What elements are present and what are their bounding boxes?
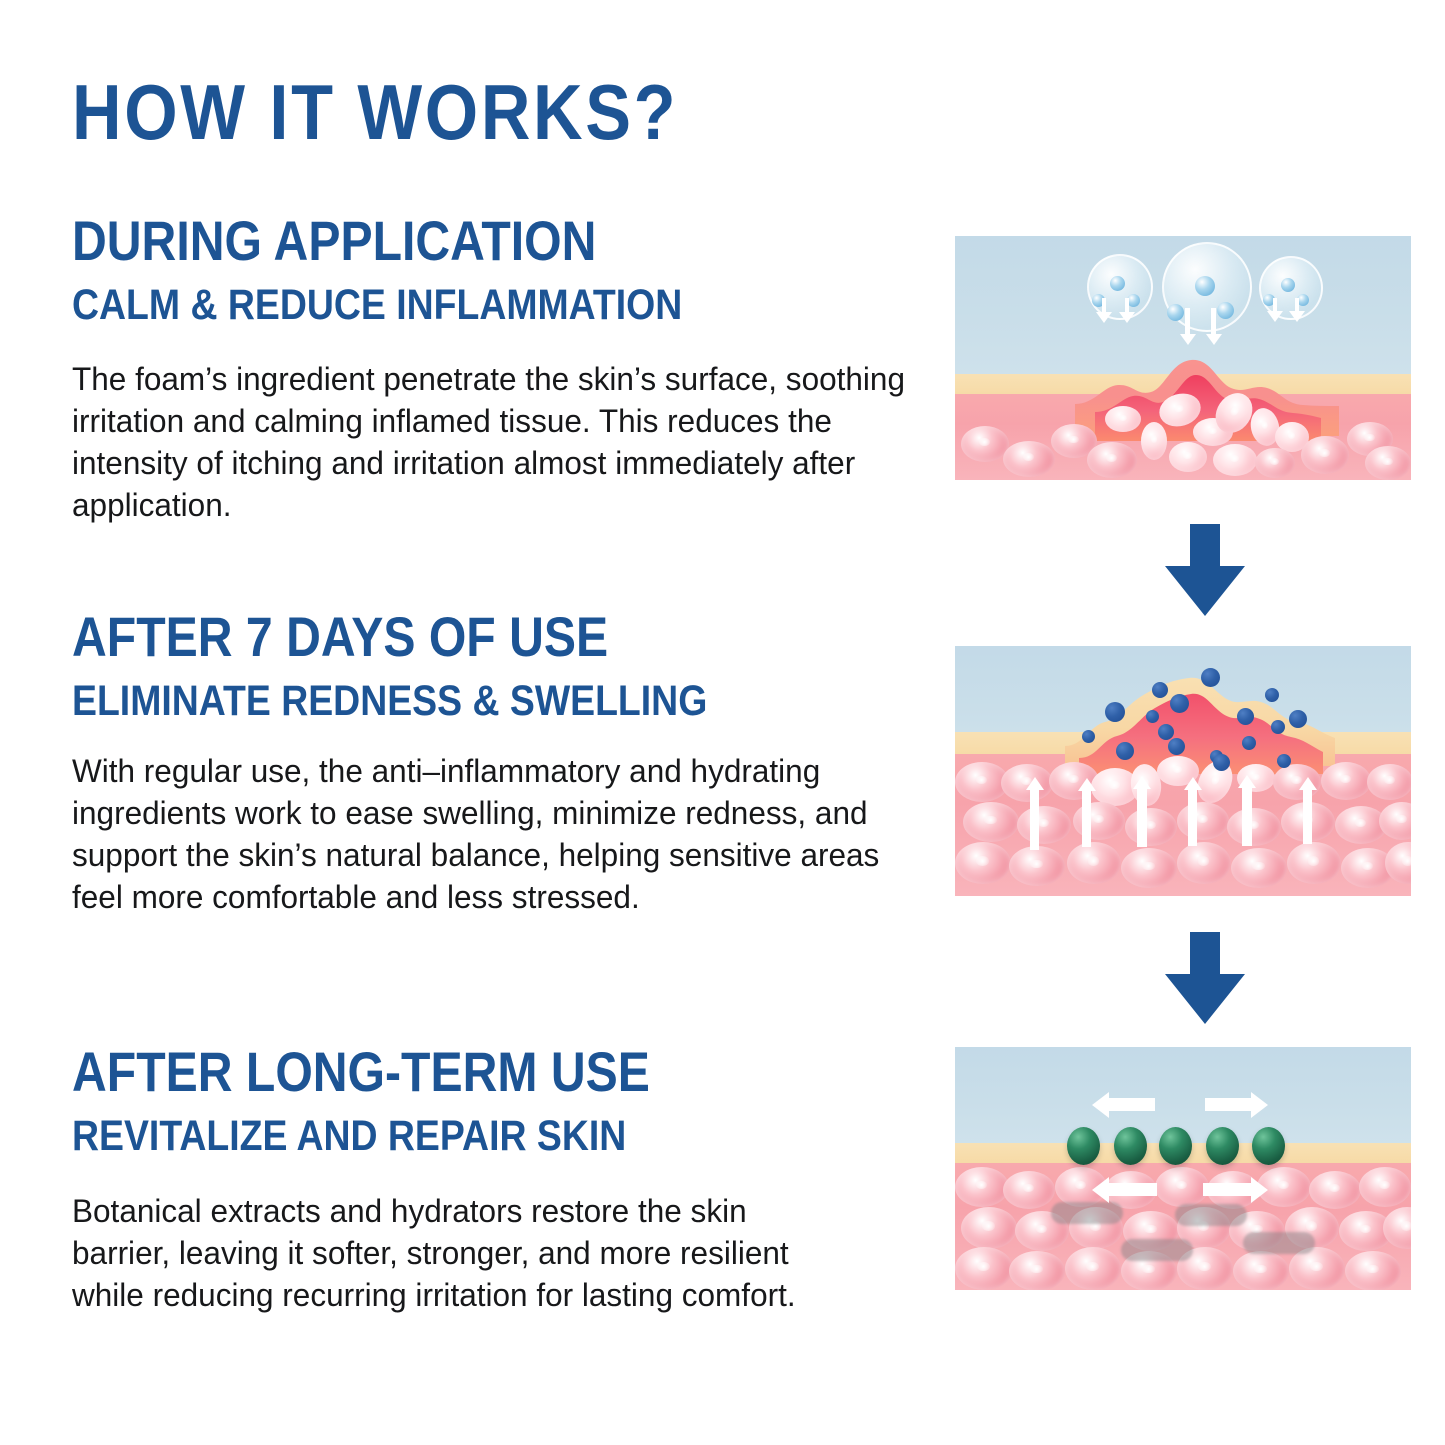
foam-droplet bbox=[1167, 304, 1184, 321]
active-molecule bbox=[1242, 736, 1256, 750]
skin-cell bbox=[1255, 448, 1295, 478]
skin-cell bbox=[1367, 764, 1411, 800]
skin-cell bbox=[1017, 806, 1071, 844]
healing-arrow-up bbox=[1137, 787, 1147, 847]
skin-cell bbox=[1125, 808, 1177, 846]
skin-cell bbox=[963, 802, 1019, 842]
active-molecule bbox=[1170, 694, 1189, 713]
skin-cell bbox=[1003, 441, 1055, 477]
skin-cell bbox=[1359, 1167, 1411, 1207]
skin-cell bbox=[1177, 842, 1231, 884]
skin-cell bbox=[1087, 442, 1137, 478]
healing-arrow-up bbox=[1188, 788, 1197, 846]
skin-cell bbox=[955, 1247, 1013, 1290]
step-arrow-1-to-2 bbox=[1157, 524, 1253, 624]
active-molecule bbox=[1237, 708, 1254, 725]
skin-cell bbox=[1287, 842, 1341, 884]
section-1-heading: DURING APPLICATION bbox=[72, 212, 596, 270]
skin-cell bbox=[1301, 436, 1349, 474]
skin-cell bbox=[1009, 1251, 1065, 1290]
skin-cell bbox=[1121, 848, 1177, 888]
section-1-body: The foam’s ingredient penetrate the skin… bbox=[72, 358, 950, 526]
active-molecule bbox=[1158, 724, 1174, 740]
repair-capsule bbox=[1121, 1239, 1193, 1261]
active-molecule bbox=[1277, 754, 1291, 768]
section-2-body: With regular use, the anti–inflammatory … bbox=[72, 750, 916, 918]
illustration-during-application bbox=[955, 236, 1411, 480]
penetration-arrow bbox=[1295, 298, 1299, 313]
healing-arrow-up bbox=[1082, 789, 1091, 847]
page-title: HOW IT WORKS? bbox=[72, 72, 678, 152]
skin-cell bbox=[1003, 1171, 1055, 1209]
healing-arrow-up bbox=[1242, 786, 1252, 846]
section-3-subheading: REVITALIZE AND REPAIR SKIN bbox=[72, 1114, 626, 1159]
barrier-arrow-left-top bbox=[1105, 1098, 1155, 1111]
skin-cell bbox=[1067, 842, 1121, 884]
skin-cell bbox=[1365, 446, 1411, 480]
skin-cell bbox=[1227, 808, 1281, 846]
skin-cell bbox=[1155, 1167, 1209, 1207]
repair-capsule bbox=[1243, 1232, 1315, 1254]
skin-cell bbox=[1073, 802, 1125, 840]
skin-cell bbox=[1345, 1251, 1401, 1290]
skin-cell bbox=[955, 842, 1011, 884]
foam-droplet bbox=[1195, 276, 1215, 296]
skin-cell bbox=[1233, 1251, 1289, 1290]
section-1-subheading: CALM & REDUCE INFLAMMATION bbox=[72, 283, 682, 328]
botanical-sphere bbox=[1252, 1127, 1285, 1165]
barrier-arrow-left-bottom bbox=[1105, 1183, 1157, 1196]
skin-cell bbox=[1169, 442, 1207, 472]
active-molecule bbox=[1289, 710, 1307, 728]
botanical-sphere bbox=[1159, 1127, 1192, 1165]
skin-cell bbox=[1321, 762, 1371, 800]
penetration-arrow bbox=[1273, 298, 1277, 313]
skin-cell bbox=[1009, 846, 1065, 886]
penetration-arrow bbox=[1125, 298, 1129, 314]
foam-droplet bbox=[1281, 278, 1295, 292]
step-arrow-2-to-3 bbox=[1157, 932, 1253, 1032]
section-3-body: Botanical extracts and hydrators restore… bbox=[72, 1190, 838, 1316]
active-molecule bbox=[1146, 710, 1159, 723]
foam-droplet bbox=[1110, 276, 1125, 291]
repair-capsule bbox=[1175, 1204, 1247, 1226]
skin-cell bbox=[1231, 848, 1287, 888]
foam-droplet bbox=[1217, 302, 1234, 319]
healing-arrow-up bbox=[1030, 788, 1039, 850]
active-molecule bbox=[1265, 688, 1279, 702]
penetration-arrow bbox=[1102, 298, 1106, 314]
repair-capsule bbox=[1051, 1202, 1123, 1224]
penetration-arrow bbox=[1185, 308, 1190, 336]
section-2-heading: AFTER 7 DAYS OF USE bbox=[72, 608, 608, 666]
skin-cell bbox=[961, 426, 1009, 462]
skin-cell bbox=[955, 1167, 1009, 1207]
botanical-sphere bbox=[1114, 1127, 1147, 1165]
active-molecule bbox=[1271, 720, 1285, 734]
skin-cell bbox=[1141, 422, 1167, 460]
healing-arrow-up bbox=[1303, 788, 1312, 844]
active-molecule bbox=[1201, 668, 1220, 687]
skin-cell bbox=[1213, 444, 1257, 476]
section-2-subheading: ELIMINATE REDNESS & SWELLING bbox=[72, 679, 707, 724]
skin-cell bbox=[961, 1207, 1017, 1249]
active-molecule bbox=[1213, 754, 1230, 771]
active-molecule bbox=[1116, 742, 1134, 760]
active-molecule bbox=[1105, 702, 1125, 722]
active-molecule bbox=[1168, 738, 1185, 755]
active-molecule bbox=[1152, 682, 1168, 698]
active-molecule bbox=[1082, 730, 1095, 743]
barrier-arrow-right-bottom bbox=[1203, 1183, 1255, 1196]
illustration-after-7-days bbox=[955, 646, 1411, 896]
botanical-sphere bbox=[1067, 1127, 1100, 1165]
skin-cell bbox=[1105, 406, 1141, 432]
penetration-arrow bbox=[1211, 308, 1216, 336]
skin-cell bbox=[1309, 1171, 1361, 1209]
barrier-arrow-right-top bbox=[1205, 1098, 1255, 1111]
skin-cell bbox=[1177, 802, 1229, 840]
botanical-sphere bbox=[1206, 1127, 1239, 1165]
skin-cell bbox=[1065, 1247, 1121, 1290]
how-it-works-infographic: HOW IT WORKS? DURING APPLICATION CALM & … bbox=[0, 0, 1445, 1445]
illustration-after-long-term bbox=[955, 1047, 1411, 1290]
section-3-heading: AFTER LONG-TERM USE bbox=[72, 1043, 650, 1101]
